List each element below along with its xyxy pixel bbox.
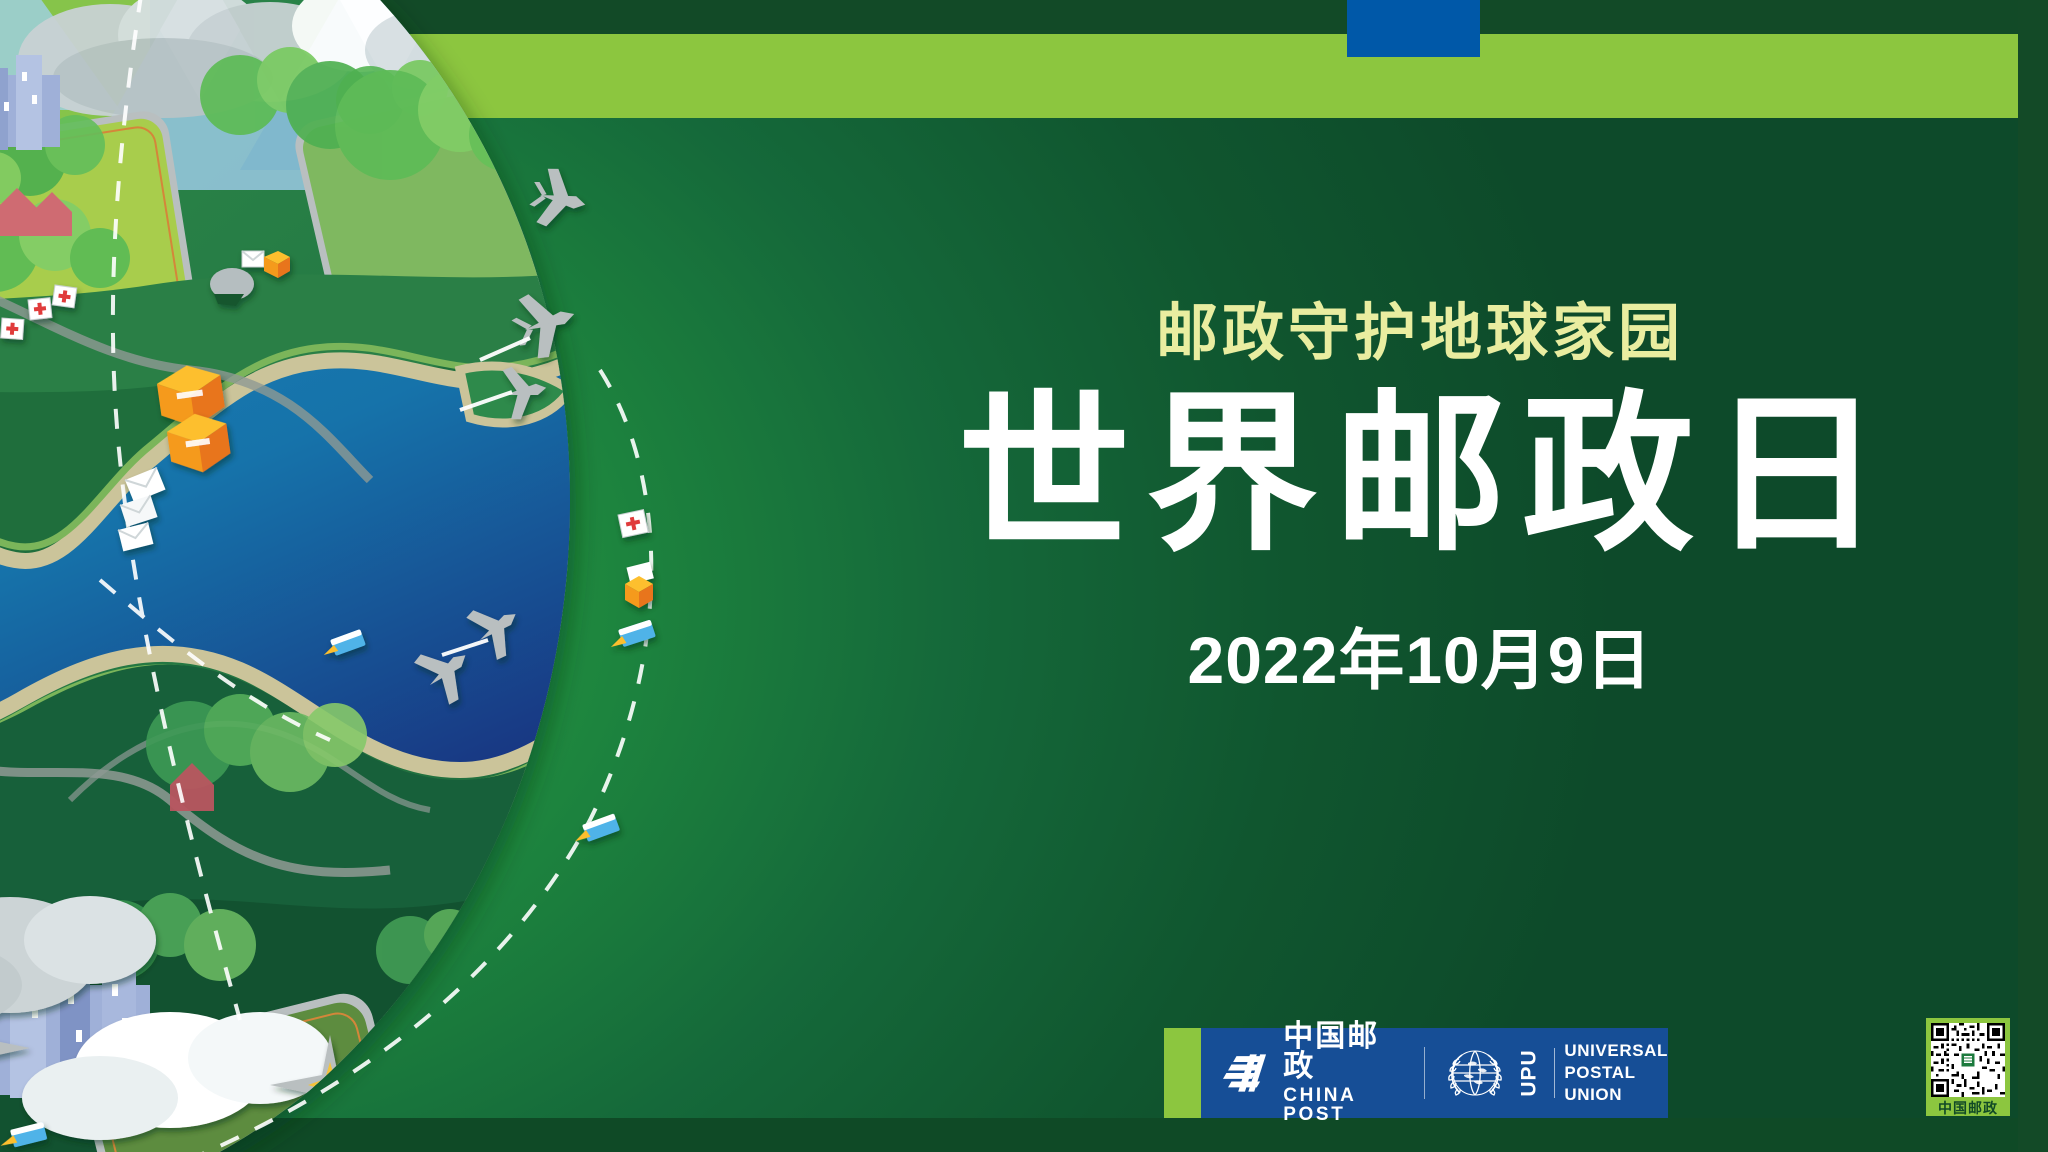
upu-wordmark: UNIVERSAL POSTAL UNION — [1564, 1040, 1668, 1105]
poster-subtitle: 邮政守护地球家园 — [860, 300, 1980, 368]
china-post-wordmark: 中国邮政 CHINA POST — [1283, 1022, 1403, 1124]
china-post-logo: 中国邮政 CHINA POST — [1223, 1022, 1404, 1124]
logo-bar: 中国邮政 CHINA POST — [1201, 1028, 1668, 1118]
logo-bar-divider — [1424, 1047, 1425, 1099]
world-post-day-poster: 邮政守护地球家园 世界邮政日 2022年10月9日 中国邮政 CHINA POS… — [0, 0, 2048, 1152]
upu-divider — [1554, 1048, 1555, 1098]
logo-bar-green-accent — [1164, 1028, 1201, 1118]
china-post-emblem-icon — [1223, 1049, 1270, 1097]
right-frame-border — [2018, 0, 2048, 1152]
upu-line-1: UNIVERSAL — [1564, 1040, 1668, 1062]
china-post-chinese-name: 中国邮政 — [1283, 1022, 1403, 1082]
poster-main-title: 世界邮政日 — [860, 386, 1980, 565]
svg-text:UPU: UPU — [1518, 1049, 1541, 1096]
upu-globe-laurel-icon — [1444, 1045, 1506, 1101]
qr-code-block[interactable]: 中国邮政 — [1926, 1018, 2010, 1116]
upu-line-3: UNION — [1564, 1084, 1668, 1106]
top-blue-tab — [1347, 0, 1480, 57]
qr-code-label: 中国邮政 — [1931, 1098, 2005, 1118]
china-post-english-name: CHINA POST — [1283, 1086, 1403, 1124]
upu-logo: UPU UNIVERSAL POSTAL UNION — [1444, 1040, 1668, 1105]
earth-illustration — [0, 0, 850, 1152]
upu-abbr-icon: UPU — [1515, 1045, 1545, 1101]
qr-code-image[interactable] — [1931, 1023, 2005, 1097]
upu-line-2: POSTAL — [1564, 1062, 1668, 1084]
poster-date: 2022年10月9日 — [860, 607, 1980, 703]
poster-text-block: 邮政守护地球家园 世界邮政日 2022年10月9日 — [860, 300, 1980, 703]
